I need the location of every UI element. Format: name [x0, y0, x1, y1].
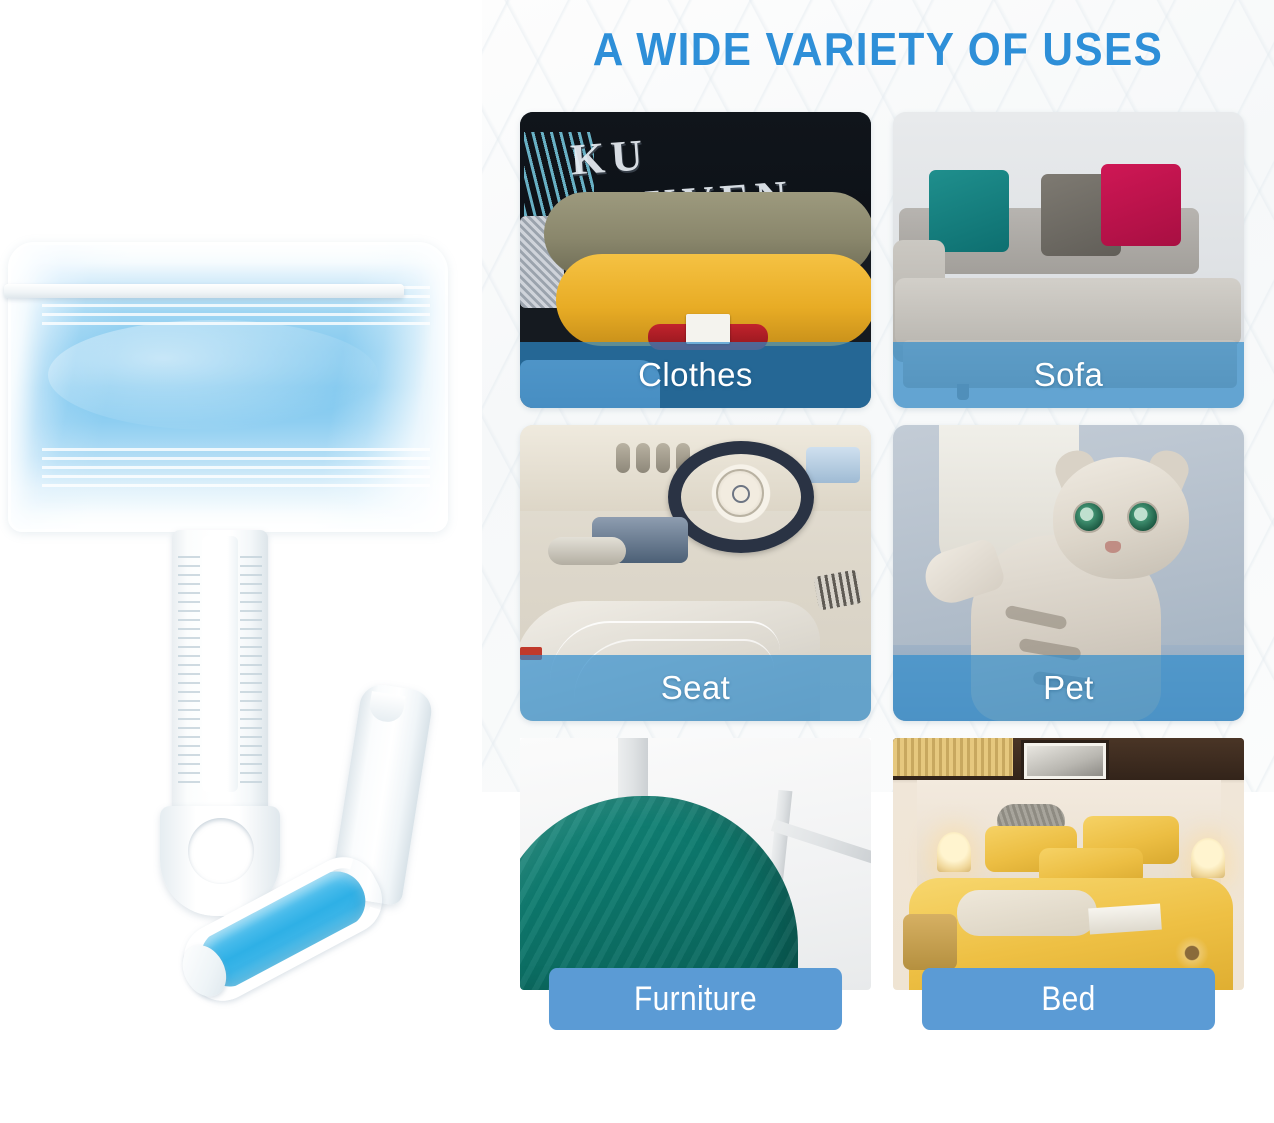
uses-grid-row: Seat: [520, 425, 1244, 721]
use-tile-label-furniture: Furniture: [549, 968, 842, 1030]
handle-ridges-left: [178, 556, 200, 784]
mini-roller-arm-notch: [368, 691, 406, 724]
use-tile-sofa: Sofa: [893, 112, 1244, 408]
bedroom-image: [893, 738, 1244, 990]
case-base-edge: [4, 284, 404, 298]
use-tile-bed: Bed: [893, 738, 1244, 1038]
use-tile-clothes: KU LEUVEN Clothes: [520, 112, 871, 408]
use-tile-label-clothes: Clothes: [520, 342, 871, 408]
use-tile-label-seat: Seat: [520, 655, 871, 721]
use-tile-label-pet: Pet: [893, 655, 1244, 721]
uses-grid: KU LEUVEN Clothes: [520, 112, 1244, 1055]
uses-grid-row: Furniture: [520, 738, 1244, 1038]
handle-hanging-hole: [188, 818, 254, 884]
use-tile-pet: Pet: [893, 425, 1244, 721]
banner-title: A WIDE VARIETY OF USES: [514, 22, 1243, 76]
handle-center-strip: [202, 536, 238, 792]
uses-panel: A WIDE VARIETY OF USES KU LEUVEN: [482, 0, 1274, 1123]
product-listing-image: A WIDE VARIETY OF USES KU LEUVEN: [0, 0, 1274, 1123]
roller-handle: [172, 530, 268, 820]
use-tile-label-sofa: Sofa: [893, 342, 1244, 408]
uses-grid-row: KU LEUVEN Clothes: [520, 112, 1244, 408]
use-tile-furniture: Furniture: [520, 738, 871, 1038]
use-tile-seat: Seat: [520, 425, 871, 721]
use-tile-label-bed: Bed: [922, 968, 1215, 1030]
product-photo-panel: [0, 0, 482, 1123]
handle-ridges-right: [240, 556, 262, 784]
velvet-chair-image: [520, 738, 871, 990]
